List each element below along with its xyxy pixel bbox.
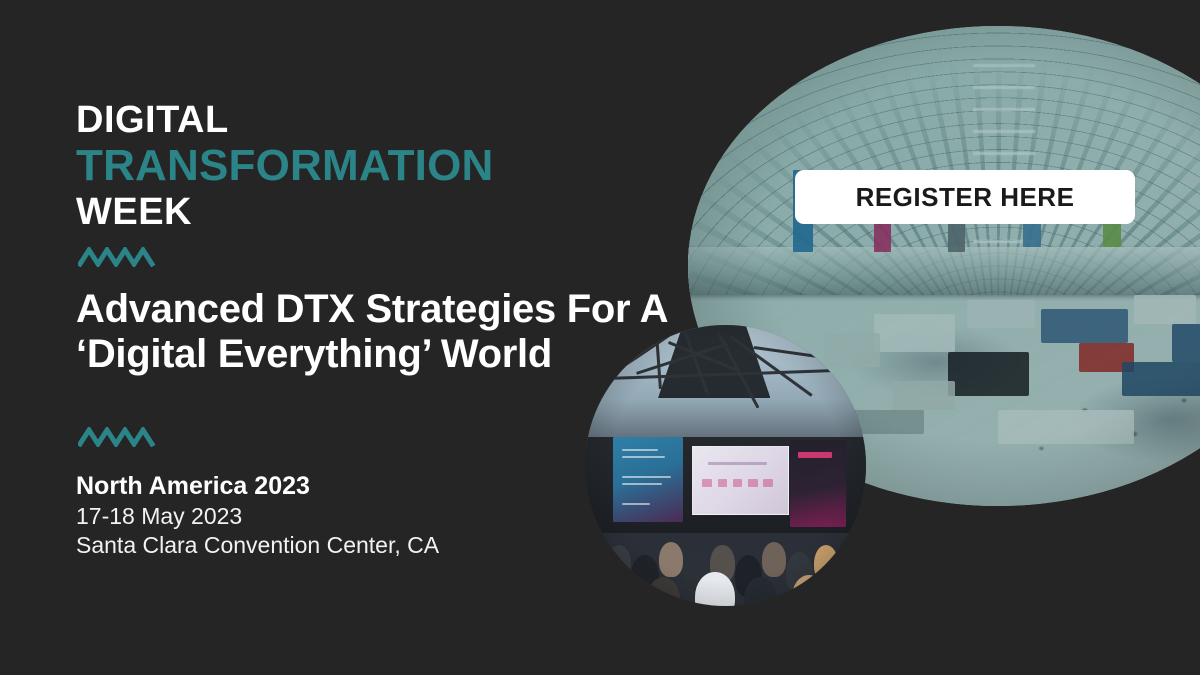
glass-roof-ribs — [688, 26, 1200, 295]
logo-line-week: WEEK — [76, 193, 494, 231]
content-column: DIGITAL TRANSFORMATION WEEK Advanced DTX… — [76, 0, 676, 675]
zigzag-divider-top — [78, 247, 158, 267]
booth-cluster — [688, 26, 1200, 506]
ceiling-lights — [973, 64, 1035, 256]
logo-line-digital: DIGITAL — [76, 101, 494, 139]
magenta-event-banner — [790, 440, 846, 527]
glass-roof-arcs — [688, 26, 1200, 295]
zigzag-divider-bottom — [78, 427, 158, 447]
promo-banner: REGISTER HERE DIGITAL TRANSFORMATION WEE… — [0, 0, 1200, 675]
event-dates: 17-18 May 2023 — [76, 502, 439, 531]
register-here-label: REGISTER HERE — [856, 182, 1075, 213]
event-venue: Santa Clara Convention Center, CA — [76, 531, 439, 560]
mezzanine-balcony — [688, 247, 1200, 295]
register-here-button[interactable]: REGISTER HERE — [795, 170, 1135, 224]
event-logo: DIGITAL TRANSFORMATION WEEK — [76, 101, 494, 231]
presentation-screen — [692, 446, 790, 515]
page-headline: Advanced DTX Strategies For A ‘Digital E… — [76, 287, 676, 377]
exhibition-hall-photo — [688, 26, 1200, 506]
event-region: North America 2023 — [76, 471, 439, 502]
zigzag-chevron-icon — [78, 247, 158, 267]
photo-vignette — [688, 26, 1200, 506]
teal-photo-tint — [688, 26, 1200, 506]
logo-line-transformation: TRANSFORMATION — [76, 144, 494, 188]
event-details: North America 2023 17-18 May 2023 Santa … — [76, 471, 439, 560]
zigzag-chevron-icon — [78, 427, 158, 447]
